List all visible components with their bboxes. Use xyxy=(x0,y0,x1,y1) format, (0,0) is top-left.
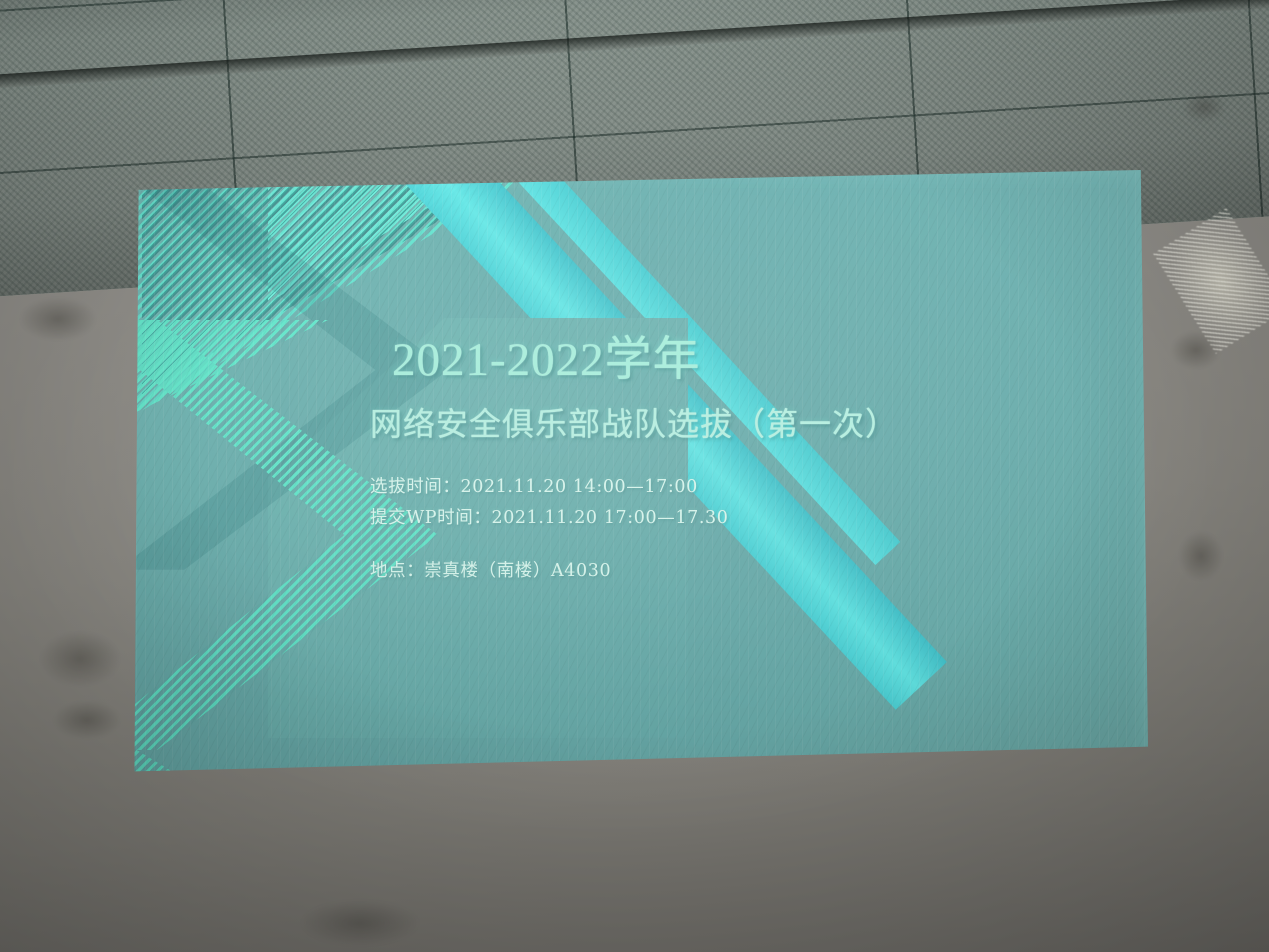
slide-title: 2021-2022学年 xyxy=(392,320,1110,389)
wp-submission-time-line: 提交WP时间：2021.11.20 17:00—17.30 xyxy=(370,504,1110,529)
text-spacer xyxy=(370,535,1110,557)
location-line: 地点：崇真楼（南楼）A4030 xyxy=(370,557,1110,582)
corner-hatched-triangle-highlight-icon xyxy=(268,178,478,303)
projection-area: 2021-2022学年 网络安全俱乐部战队选拔（第一次） 选拔时间：2021.1… xyxy=(118,170,1148,790)
slide-subtitle: 网络安全俱乐部战队选拔（第一次） xyxy=(370,399,1110,445)
selection-time-line: 选拔时间：2021.11.20 14:00—17:00 xyxy=(370,473,1110,498)
slide-text-block: 2021-2022学年 网络安全俱乐部战队选拔（第一次） 选拔时间：2021.1… xyxy=(370,320,1110,588)
slide-canvas: 2021-2022学年 网络安全俱乐部战队选拔（第一次） 选拔时间：2021.1… xyxy=(118,170,1148,790)
projected-slide-photo: 2021-2022学年 网络安全俱乐部战队选拔（第一次） 选拔时间：2021.1… xyxy=(0,0,1269,952)
chevron-top-wedge-icon xyxy=(118,320,328,440)
